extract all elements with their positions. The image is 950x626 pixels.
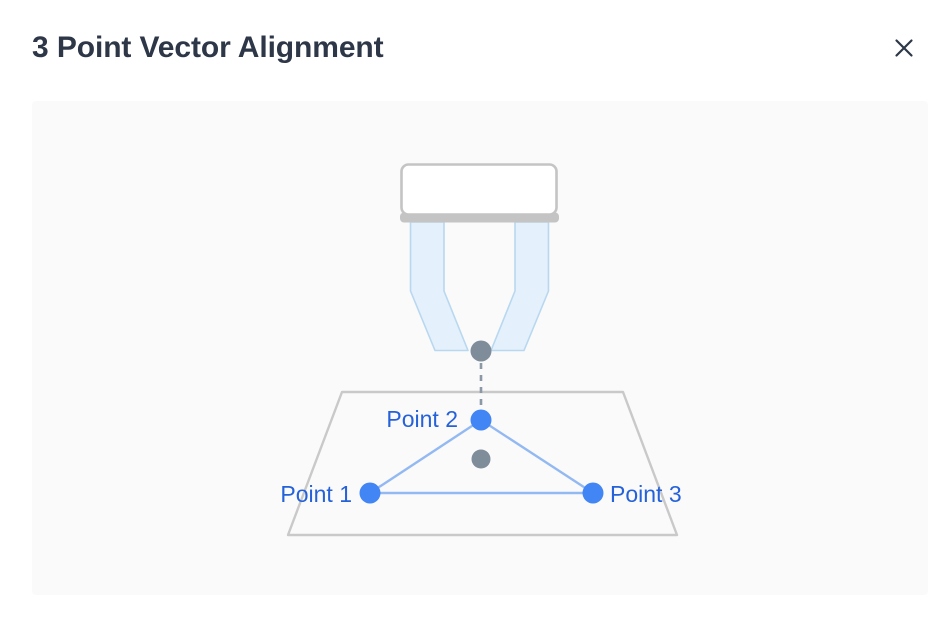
point-1-label: Point 1	[280, 481, 352, 507]
alignment-diagram: Point 1 Point 2 Point 3	[32, 101, 928, 595]
point-2-marker[interactable]	[471, 410, 492, 431]
point-3-marker[interactable]	[583, 483, 604, 504]
projected-center-point-marker	[472, 450, 491, 469]
point-2-label: Point 2	[386, 406, 458, 432]
diagram-panel: Point 1 Point 2 Point 3	[32, 101, 928, 595]
close-icon	[891, 35, 917, 61]
gripper-fingers	[411, 222, 549, 351]
tool-center-point-marker	[471, 341, 492, 362]
point-3-label: Point 3	[610, 481, 682, 507]
page-title: 3 Point Vector Alignment	[32, 28, 384, 68]
dialog-header: 3 Point Vector Alignment	[0, 0, 950, 96]
point-1-marker[interactable]	[360, 483, 381, 504]
gripper-body	[402, 165, 557, 215]
close-button[interactable]	[882, 26, 926, 70]
alignment-dialog: 3 Point Vector Alignment	[0, 0, 950, 626]
